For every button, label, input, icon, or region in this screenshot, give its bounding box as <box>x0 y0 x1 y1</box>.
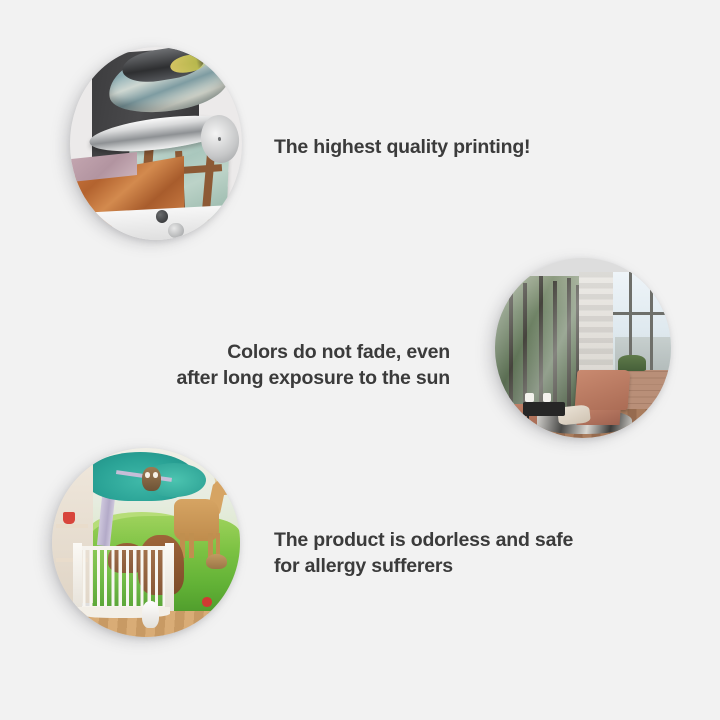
printing-machine-photo <box>70 47 242 240</box>
leather-lounge-chair <box>575 370 631 410</box>
caption-odorless-safe: The product is odorless and safe for all… <box>274 528 573 579</box>
coffee-table <box>523 402 565 416</box>
crib-post <box>73 543 82 611</box>
nursery-room-scene <box>52 448 240 637</box>
loft-living-room-scene <box>495 258 671 438</box>
mural-hedgehog <box>206 554 227 569</box>
mural-ladybug <box>202 597 211 606</box>
caption-quality-printing: The highest quality printing! <box>274 135 530 161</box>
rabbit-figurine <box>142 601 159 627</box>
nursery-room-photo <box>52 448 240 637</box>
feature-collage: The highest quality printing! Colors do … <box>0 0 720 720</box>
window-mullion <box>613 312 671 315</box>
wall-shelf <box>56 524 88 529</box>
machine-knob-metal <box>168 223 183 238</box>
cup <box>543 393 552 402</box>
cup <box>525 393 534 402</box>
machine-knob-dark <box>156 210 168 223</box>
window-plants <box>618 355 646 371</box>
caption-fade-resistant: Colors do not fade, even after long expo… <box>110 340 450 391</box>
window-mullion <box>650 272 653 376</box>
shelf-jar <box>63 512 74 523</box>
loft-living-room-photo <box>495 258 671 438</box>
mural-deer-leg <box>189 533 194 558</box>
crib-post <box>165 543 174 611</box>
baby-crib <box>75 546 173 610</box>
mural-sunbeam-mist <box>495 276 583 420</box>
mural-owl <box>142 467 161 492</box>
printing-machine-scene <box>70 47 242 240</box>
